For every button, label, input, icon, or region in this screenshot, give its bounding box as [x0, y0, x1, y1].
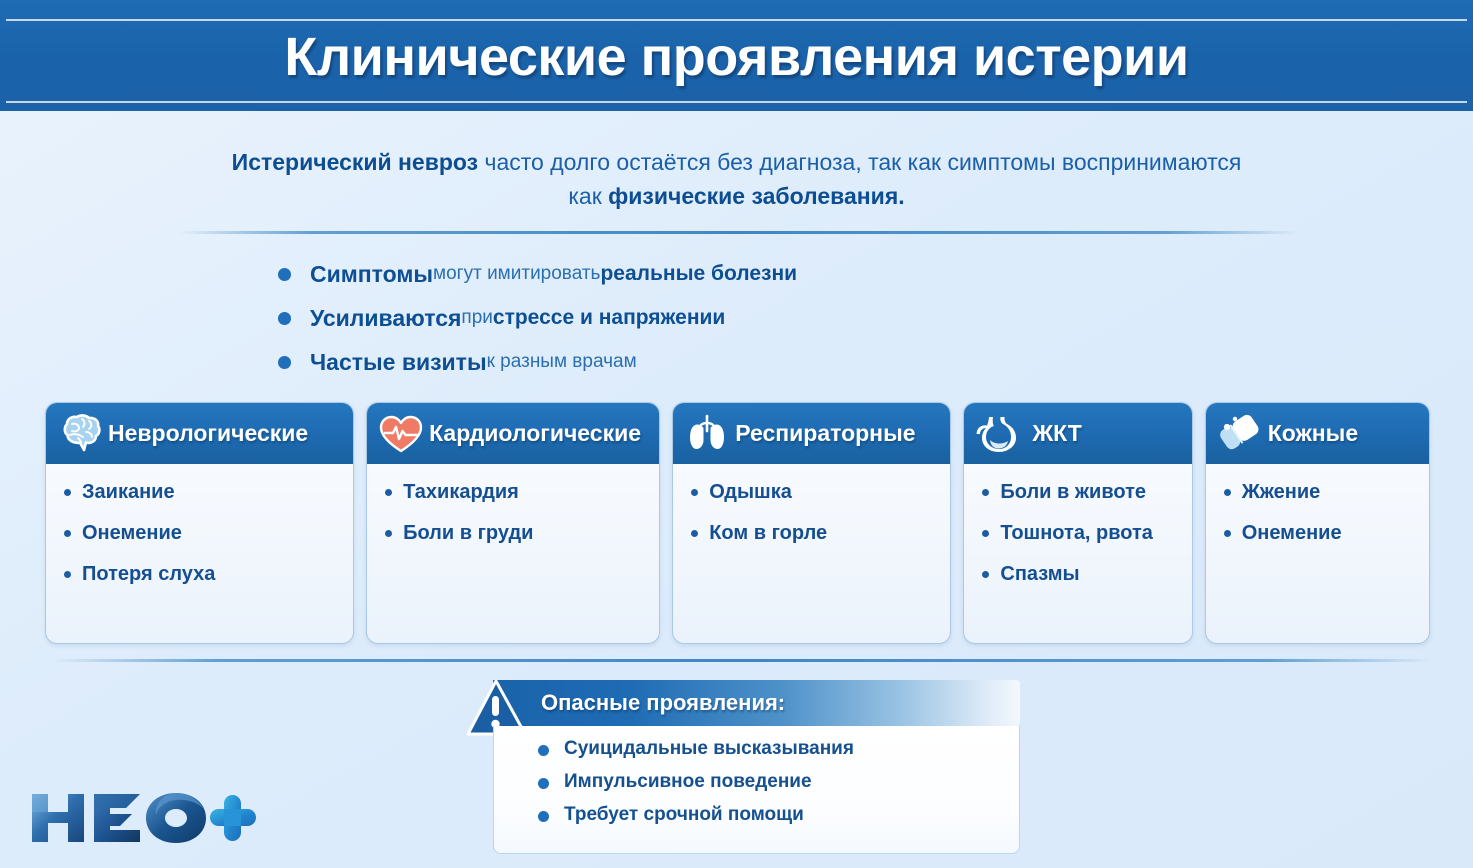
item-label: Импульсивное поведение — [564, 771, 812, 792]
card-title: Кардиологические — [429, 420, 641, 447]
item-label: Потеря слуха — [82, 563, 215, 585]
bullet-dot-icon — [278, 312, 291, 325]
list-item: Онемение — [62, 521, 341, 546]
bullet-dot-icon — [538, 745, 549, 756]
card-body: Одышка Ком в горле — [673, 464, 950, 570]
card-body: Боли в животе Тошнота, рвота Спазмы — [964, 464, 1191, 611]
list-item: Заикание — [62, 480, 341, 505]
item-label: Боли в груди — [403, 522, 533, 544]
bullet-dot-icon — [691, 489, 698, 496]
keypoint-lead: Частые визиты — [310, 349, 487, 376]
item-label: Спазмы — [1000, 563, 1079, 585]
bullet-dot-icon — [538, 811, 549, 822]
card-body: Заикание Онемение Потеря слуха — [46, 464, 353, 611]
list-item: Онемение — [1222, 521, 1417, 546]
list-item: Симптомы могут имитировать реальные боле… — [276, 252, 1176, 296]
card-neurological[interactable]: Неврологические Заикание Онемение Потеря… — [45, 402, 354, 644]
list-item: Жжение — [1222, 480, 1417, 505]
list-item: Ком в горле — [689, 521, 938, 546]
intro-paragraph: Истерический невроз часто долго остаётся… — [120, 145, 1353, 213]
item-label: Заикание — [82, 481, 175, 503]
list-item: Тошнота, рвота — [980, 521, 1179, 546]
item-label: Одышка — [709, 481, 792, 503]
card-body: Жжение Онемение — [1206, 464, 1429, 570]
warning-title: Опасные проявления: — [541, 690, 785, 716]
item-label: Онемение — [82, 522, 182, 544]
list-item: Спазмы — [980, 562, 1179, 587]
infographic-poster: Клинические проявления истерии Истеричес… — [0, 0, 1473, 868]
list-item: Требует срочной помощи — [534, 804, 1019, 826]
card-title: Респираторные — [735, 420, 915, 447]
item-label: Жжение — [1242, 481, 1321, 503]
intro-divider — [178, 231, 1298, 234]
intro-line2-bold: физические заболевания. — [608, 183, 904, 209]
card-title: Неврологические — [108, 420, 308, 447]
keypoint-mid: при — [461, 307, 492, 329]
bullet-dot-icon — [64, 489, 71, 496]
list-item: Тахикардия — [383, 480, 647, 505]
bullet-dot-icon — [982, 571, 989, 578]
page-title: Клинические проявления истерии — [0, 26, 1473, 88]
keypoint-tail: к разным врачам — [487, 351, 637, 373]
keypoint-tail: реальные болезни — [600, 262, 797, 286]
item-label: Суицидальные высказывания — [564, 738, 854, 759]
list-item: Одышка — [689, 480, 938, 505]
keypoint-mid: могут имитировать — [433, 263, 600, 285]
item-label: Боли в животе — [1000, 481, 1146, 503]
item-label: Ком в горле — [709, 522, 827, 544]
intro-lead-bold: Истерический невроз — [232, 149, 478, 175]
intro-line2-prefix: как — [568, 183, 601, 209]
keypoint-lead: Симптомы — [310, 261, 433, 288]
cards-divider — [52, 659, 1432, 662]
bullet-dot-icon — [691, 530, 698, 537]
bullet-dot-icon — [385, 489, 392, 496]
header-bottom-rule — [6, 101, 1467, 103]
card-dermatological[interactable]: Кожные Жжение Онемение — [1205, 402, 1430, 644]
bullet-dot-icon — [1224, 530, 1231, 537]
stomach-icon — [974, 412, 1022, 456]
brand-logo — [28, 790, 258, 846]
symptom-category-cards: Неврологические Заикание Онемение Потеря… — [45, 402, 1430, 644]
card-title: Кожные — [1268, 420, 1358, 447]
bullet-dot-icon — [1224, 489, 1231, 496]
list-item: Потеря слуха — [62, 562, 341, 587]
bullet-dot-icon — [278, 268, 291, 281]
skin-patch-icon — [1216, 412, 1264, 456]
lungs-icon — [683, 412, 731, 456]
card-header: Респираторные — [673, 403, 950, 464]
brain-icon — [56, 412, 104, 456]
list-item: Импульсивное поведение — [534, 771, 1019, 793]
item-label: Тошнота, рвота — [1000, 522, 1153, 544]
list-item: Усиливаются при стрессе и напряжении — [276, 296, 1176, 340]
card-cardiological[interactable]: Кардиологические Тахикардия Боли в груди — [366, 402, 660, 644]
header-top-rule — [6, 19, 1467, 21]
bullet-dot-icon — [278, 356, 291, 369]
item-label: Тахикардия — [403, 481, 519, 503]
card-title: ЖКТ — [1032, 420, 1081, 447]
keypoint-lead: Усиливаются — [310, 305, 461, 332]
card-respiratory[interactable]: Респираторные Одышка Ком в горле — [672, 402, 951, 644]
warning-body: Суицидальные высказывания Импульсивное п… — [493, 726, 1020, 854]
list-item: Боли в груди — [383, 521, 647, 546]
card-header: ЖКТ — [964, 403, 1191, 464]
bullet-dot-icon — [385, 530, 392, 537]
intro-plain-line1: часто долго остаётся без диагноза, так к… — [484, 149, 1241, 175]
warning-header: Опасные проявления: — [493, 680, 1020, 726]
card-header: Кардиологические — [367, 403, 659, 464]
danger-warning-box: Опасные проявления: Суицидальные высказы… — [465, 678, 1020, 860]
key-points-list: Симптомы могут имитировать реальные боле… — [276, 252, 1176, 384]
item-label: Требует срочной помощи — [564, 804, 804, 825]
bullet-dot-icon — [64, 530, 71, 537]
list-item: Суицидальные высказывания — [534, 738, 1019, 760]
bullet-dot-icon — [64, 571, 71, 578]
list-item: Боли в животе — [980, 480, 1179, 505]
heart-pulse-icon — [377, 412, 425, 456]
card-header: Кожные — [1206, 403, 1429, 464]
bullet-dot-icon — [982, 530, 989, 537]
item-label: Онемение — [1242, 522, 1342, 544]
card-gastrointestinal[interactable]: ЖКТ Боли в животе Тошнота, рвота Спазмы — [963, 402, 1192, 644]
card-body: Тахикардия Боли в груди — [367, 464, 659, 570]
list-item: Частые визиты к разным врачам — [276, 340, 1176, 384]
card-header: Неврологические — [46, 403, 353, 464]
keypoint-tail: стрессе и напряжении — [493, 306, 725, 330]
bullet-dot-icon — [982, 489, 989, 496]
bullet-dot-icon — [538, 778, 549, 789]
poster-header: Клинические проявления истерии — [0, 0, 1473, 111]
